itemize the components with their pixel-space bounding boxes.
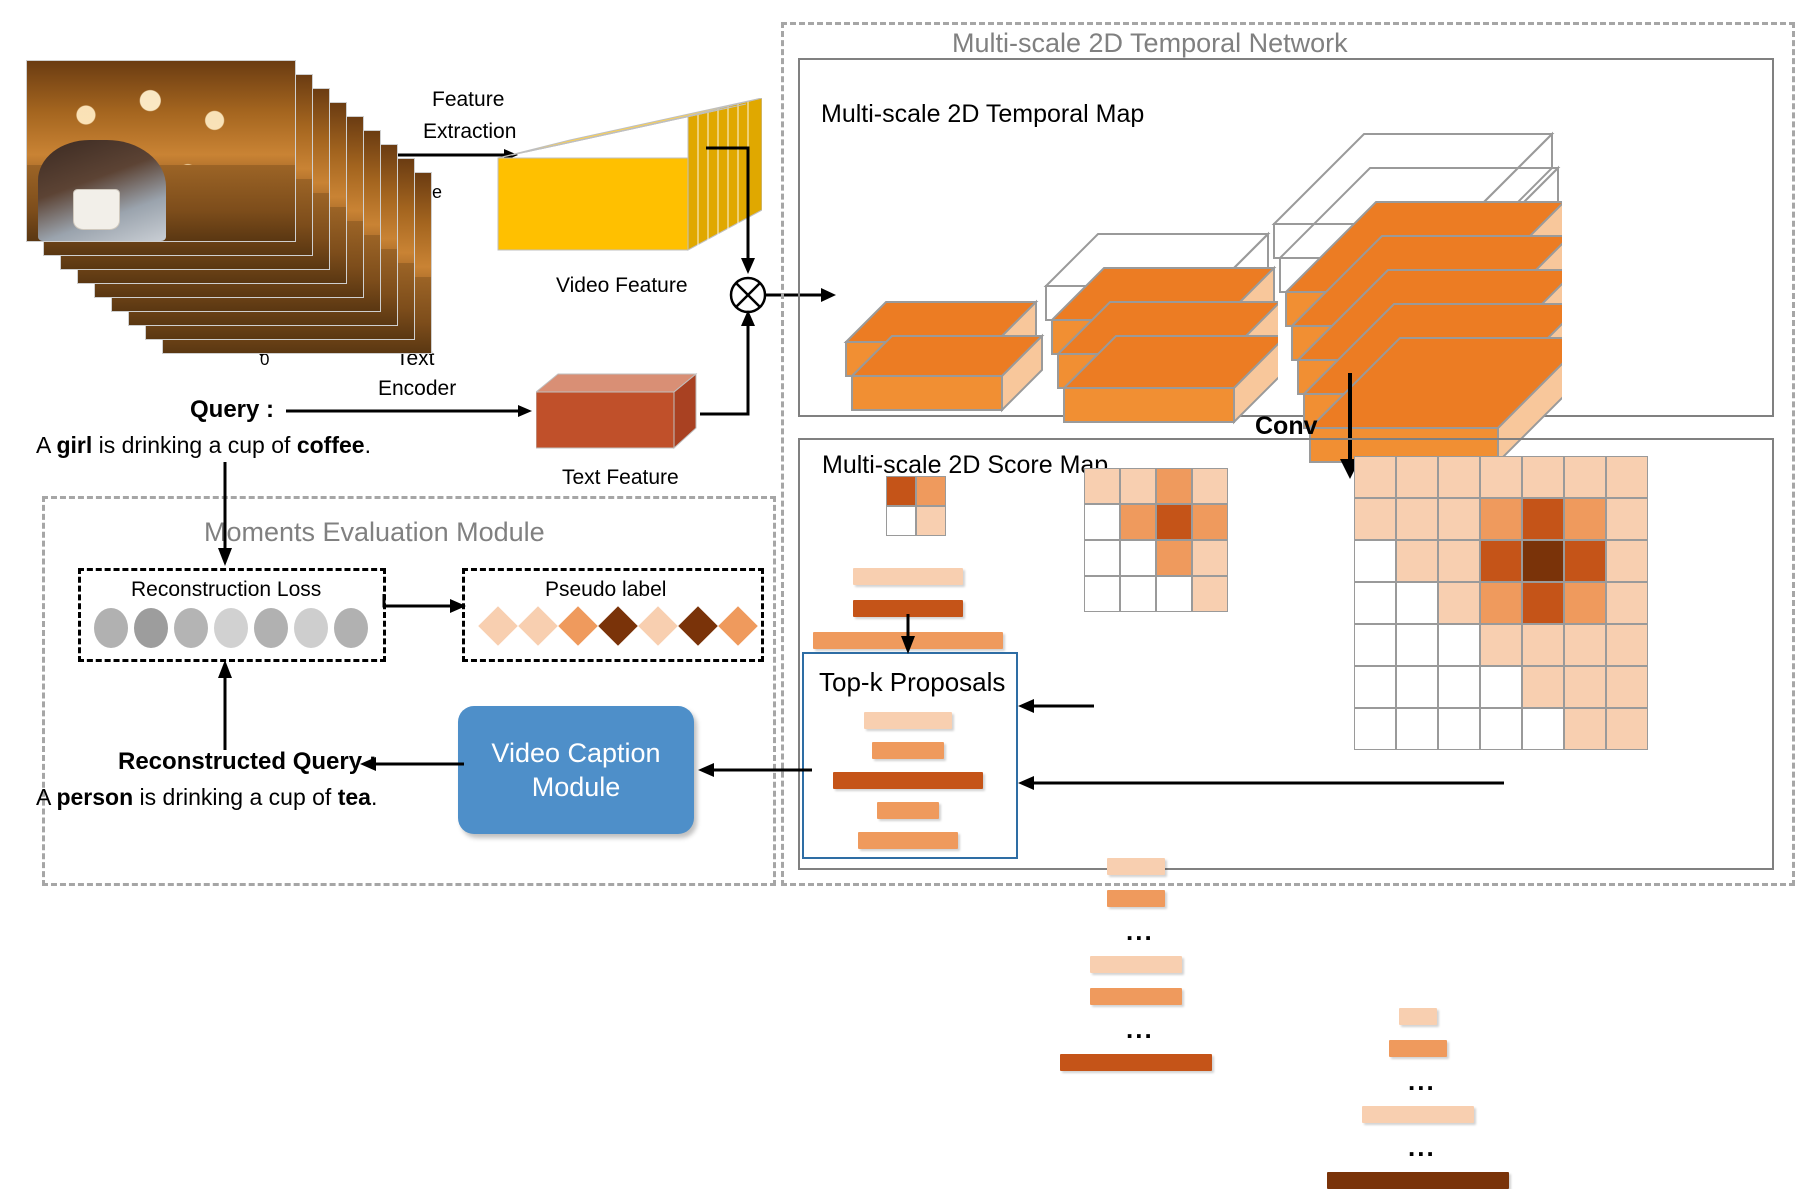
text-encoder-label-line2: Encoder (378, 377, 456, 401)
proposal-bar (1327, 1172, 1509, 1189)
proposal-bar (1389, 1040, 1447, 1057)
proposal-ellipsis: ... (1126, 916, 1154, 947)
temporal-map-stacks (798, 58, 1770, 413)
proposal-ellipsis: ... (1126, 1014, 1154, 1045)
query-text: A girl is drinking a cup of coffee. (36, 432, 371, 459)
video-caption-module[interactable]: Video Caption Module (458, 706, 694, 834)
pseudo-label-diamond (478, 606, 518, 646)
proposal-bar (1090, 956, 1182, 973)
video-caption-module-line2: Module (532, 770, 621, 804)
pseudo-label-diamond (638, 606, 678, 646)
text-encoder-arrow (286, 404, 534, 418)
query-keyword: person (56, 784, 133, 810)
temporal-stack-scale-2 (1036, 224, 1278, 432)
pseudo-label-diamond (558, 606, 598, 646)
loss-to-pseudo-arrow (382, 592, 468, 616)
reconstructed-query-to-loss-arrow (215, 660, 235, 750)
coffee-cup (73, 189, 121, 231)
query-to-loss-arrow (215, 462, 235, 570)
reconstruction-loss-circle (134, 608, 168, 648)
query-keyword: coffee (297, 432, 365, 458)
video-to-fusion-connector (706, 140, 762, 280)
query-keyword: girl (56, 432, 92, 458)
topk-proposal-bar (864, 712, 952, 729)
proposal-bar (1090, 988, 1182, 1005)
reconstruction-loss-circle (174, 608, 208, 648)
video-feature-label: Video Feature (556, 274, 688, 298)
reconstructed-query-label: Reconstructed Query : (118, 748, 377, 776)
pseudo-label-diamond (678, 606, 718, 646)
pseudo-label-diamonds (462, 568, 758, 656)
topk-proposal-bar (858, 832, 958, 849)
pseudo-label-diamond (718, 606, 758, 646)
video-frame (26, 60, 296, 242)
query-fragment: A (36, 432, 56, 458)
text-feature-label: Text Feature (562, 466, 679, 490)
proposal-bar (1362, 1106, 1474, 1123)
video-frame-stack (26, 60, 446, 350)
query-label: Query : (190, 396, 274, 424)
topk-proposal-bars (802, 652, 1014, 855)
query-fragment: . (371, 784, 377, 810)
reconstruction-loss-circles (78, 568, 380, 656)
topk-to-caption-arrow (696, 762, 812, 778)
text-to-fusion-connector (700, 308, 756, 422)
reconstruction-loss-circle (94, 608, 128, 648)
temporal-stack-scale-1 (836, 292, 1046, 420)
text-feature-cuboid (536, 370, 706, 460)
pseudo-label-diamond (518, 606, 558, 646)
proposal-bar (1107, 890, 1165, 907)
reconstructed-query-text: A person is drinking a cup of tea. (36, 784, 377, 811)
reconstruction-loss-circle (254, 608, 288, 648)
query-keyword: tea (338, 784, 371, 810)
query-fragment: is drinking a cup of (92, 432, 297, 458)
scale2-to-topk-arrow (1016, 698, 1094, 714)
query-fragment: A (36, 784, 56, 810)
scale3-to-topk-arrow (1016, 775, 1504, 791)
query-fragment: is drinking a cup of (133, 784, 338, 810)
query-fragment: . (365, 432, 371, 458)
moments-module-title: Moments Evaluation Module (204, 517, 545, 548)
topk-proposal-bar (833, 772, 983, 789)
conv-label: Conv (1255, 412, 1318, 441)
topk-proposal-bar (872, 742, 944, 759)
reconstruction-loss-circle (334, 608, 368, 648)
topk-proposal-bar (877, 802, 939, 819)
scale1-to-topk-arrow (898, 614, 918, 656)
pseudo-label-diamond (598, 606, 638, 646)
proposal-bar (1399, 1008, 1437, 1025)
proposal-ellipsis: ... (1408, 1066, 1436, 1097)
video-caption-module-line1: Video Caption (491, 736, 660, 770)
proposal-ellipsis: ... (1408, 1132, 1436, 1163)
reconstruction-loss-circle (294, 608, 328, 648)
reconstruction-loss-circle (214, 608, 248, 648)
temporal-network-title: Multi-scale 2D Temporal Network (952, 28, 1348, 59)
